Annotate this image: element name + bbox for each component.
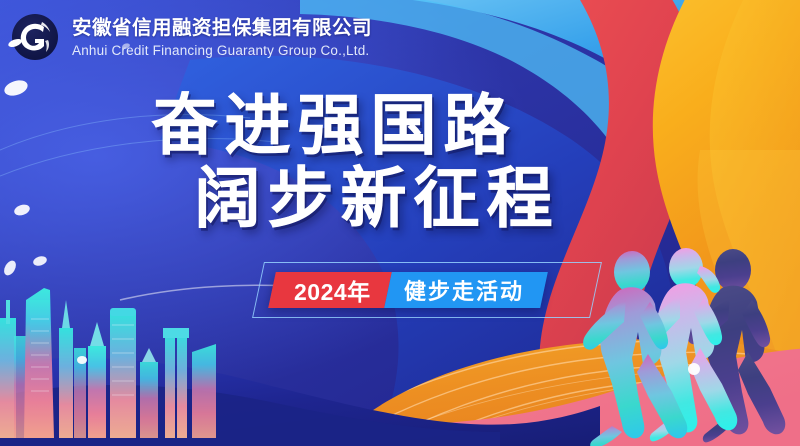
subtitle-event-segment: 健步走活动 [384,272,548,308]
subtitle-ribbon: 2024年 健步走活动 [268,272,547,308]
brand-text: 安徽省信用融资担保集团有限公司 Anhui Credit Financing G… [72,17,372,57]
subtitle-year-segment: 2024年 [268,272,391,308]
headline-line-2: 阔步新征程 [64,165,690,232]
company-name-en: Anhui Credit Financing Guaranty Group Co… [72,44,372,58]
company-name-cn: 安徽省信用融资担保集团有限公司 [72,19,372,39]
subtitle-event-label: 健步走活动 [404,274,524,306]
headline: 奋进强国路 阔步新征程 [0,92,690,233]
subtitle-year-label: 2024年 [294,273,371,307]
headline-line-1: 奋进强国路 [0,92,690,159]
event-banner: 安徽省信用融资担保集团有限公司 Anhui Credit Financing G… [0,0,800,446]
company-g-emblem-icon [8,10,62,64]
brand-lockup: 安徽省信用融资担保集团有限公司 Anhui Credit Financing G… [8,10,372,64]
